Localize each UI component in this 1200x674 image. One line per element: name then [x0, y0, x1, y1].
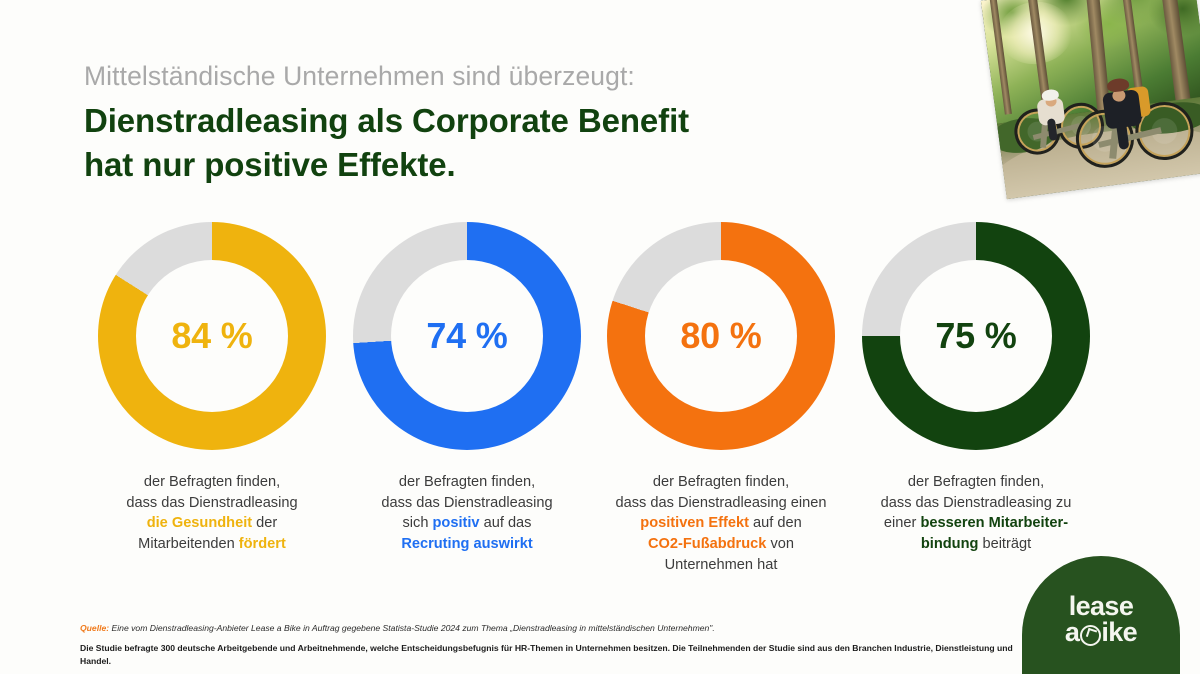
methodology-note: Die Studie befragte 300 deutsche Arbeitg… [80, 642, 1040, 668]
footnote-block: Quelle: Eine vom Dienstradleasing-Anbiet… [80, 622, 1040, 668]
subtitle: Mittelständische Unternehmen sind überze… [84, 60, 844, 93]
donut-value-label: 84 % [171, 315, 252, 357]
donut-caption: der Befragten finden,dass das Dienstradl… [83, 472, 341, 555]
logo-text-ike: ike [1101, 619, 1137, 645]
logo-line-a-bike: a ike [1065, 619, 1137, 645]
donut-caption: der Befragten finden,dass das Dienstradl… [338, 472, 596, 555]
donut-value-label: 74 % [426, 315, 507, 357]
photo-scene [981, 0, 1200, 199]
stat-card-gesundheit: 84 % der Befragten finden,dass das Diens… [83, 222, 341, 555]
donut-value-label: 75 % [935, 315, 1016, 357]
donut-co2: 80 % [607, 222, 835, 450]
source-label: Quelle: [80, 623, 109, 633]
infographic-canvas: Mittelständische Unternehmen sind überze… [0, 0, 1200, 674]
donut-mitarbeiterbindung: 75 % [862, 222, 1090, 450]
logo-line-lease: lease [1069, 593, 1134, 619]
donut-caption: der Befragten finden,dass das Dienstradl… [592, 472, 850, 576]
source-line: Quelle: Eine vom Dienstradleasing-Anbiet… [80, 622, 1040, 635]
page-title: Dienstradleasing als Corporate Benefit h… [84, 99, 844, 186]
headline-line-1: Dienstradleasing als Corporate Benefit [84, 99, 844, 143]
stat-card-co2: 80 % der Befragten finden,dass das Diens… [592, 222, 850, 576]
bike-wheel-icon [1080, 625, 1101, 646]
stat-card-recruiting: 74 % der Befragten finden,dass das Diens… [338, 222, 596, 555]
donut-center: 75 % [900, 260, 1052, 412]
headline-line-2: hat nur positive Effekte. [84, 143, 844, 187]
donut-value-label: 80 % [680, 315, 761, 357]
donut-recruiting: 74 % [353, 222, 581, 450]
donut-center: 74 % [391, 260, 543, 412]
logo-text-a: a [1065, 619, 1079, 645]
donut-caption: der Befragten finden,dass das Dienstradl… [847, 472, 1105, 555]
donut-center: 84 % [136, 260, 288, 412]
source-text: Eine vom Dienstradleasing-Anbieter Lease… [109, 623, 715, 633]
header-block: Mittelständische Unternehmen sind überze… [84, 60, 844, 186]
lease-a-bike-logo[interactable]: lease a ike [1022, 556, 1180, 674]
donut-center: 80 % [645, 260, 797, 412]
photo-cyclist-front [1068, 62, 1200, 177]
stat-card-mitarbeiterbindung: 75 % der Befragten finden,dass das Diens… [847, 222, 1105, 555]
donut-gesundheit: 84 % [98, 222, 326, 450]
hero-photo [981, 0, 1200, 199]
